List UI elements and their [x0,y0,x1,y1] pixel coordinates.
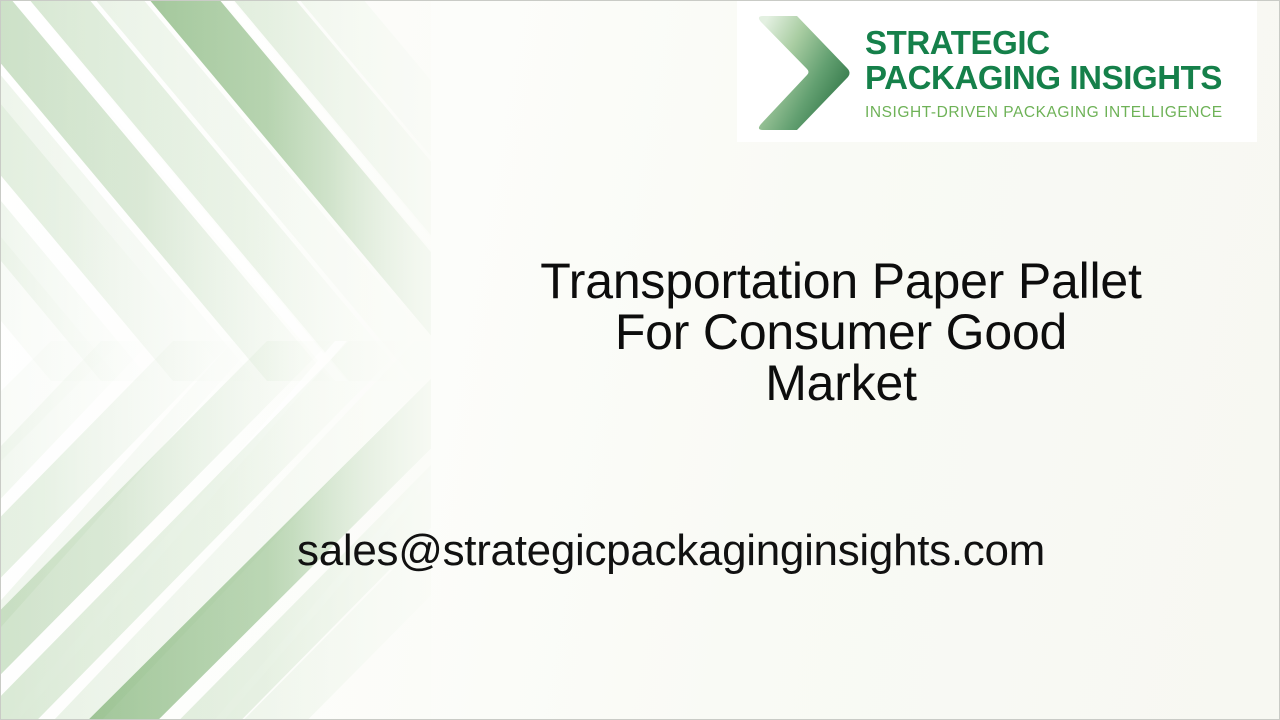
contact-email[interactable]: sales@strategicpackaginginsights.com [297,525,1045,577]
page-title: Transportation Paper Pallet For Consumer… [431,256,1251,409]
logo-wordmark: STRATEGIC PACKAGING INSIGHTS INSIGHT-DRI… [865,26,1223,121]
logo-wordmark-line1: STRATEGIC [865,26,1223,59]
company-logo: STRATEGIC PACKAGING INSIGHTS INSIGHT-DRI… [737,1,1257,142]
logo-wordmark-line2: PACKAGING INSIGHTS [865,61,1223,94]
page-title-line-3: Market [431,358,1251,409]
page-title-line-2: For Consumer Good [431,307,1251,358]
chevron-right-icon [749,10,853,135]
decorative-bands-svg [1,1,431,720]
logo-tagline: INSIGHT-DRIVEN PACKAGING INTELLIGENCE [865,105,1223,121]
chevron-bands-graphic [1,1,431,720]
presentation-slide: STRATEGIC PACKAGING INSIGHTS INSIGHT-DRI… [0,0,1280,720]
page-title-line-1: Transportation Paper Pallet [431,256,1251,307]
